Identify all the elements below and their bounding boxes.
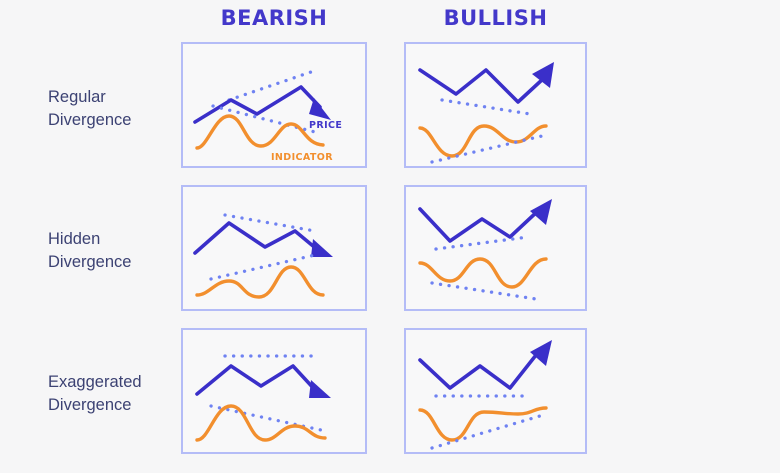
chart-svg bbox=[183, 330, 365, 452]
indicator-line bbox=[197, 116, 323, 148]
price-line bbox=[420, 70, 544, 102]
row-label-line1: Hidden bbox=[48, 228, 176, 251]
price-arrow-down-icon bbox=[311, 239, 333, 257]
indicator-line bbox=[420, 408, 546, 440]
chart-svg bbox=[183, 187, 365, 309]
row-label-hidden-divergence: Hidden Divergence bbox=[48, 228, 176, 274]
chart-svg bbox=[406, 44, 585, 166]
price-trendline-dotted bbox=[229, 72, 311, 100]
price-line bbox=[420, 209, 540, 241]
row-label-line1: Regular bbox=[48, 86, 176, 109]
price-arrow-up-icon bbox=[530, 340, 552, 366]
column-header-bearish: BEARISH bbox=[181, 4, 367, 32]
chart-cell-regular-bearish: PRICE INDICATOR bbox=[181, 42, 367, 168]
chart-cell-hidden-bearish bbox=[181, 185, 367, 311]
row-label-line2: Divergence bbox=[48, 251, 176, 274]
row-label-line1: Exaggerated bbox=[48, 371, 176, 394]
row-label-regular-divergence: Regular Divergence bbox=[48, 86, 176, 132]
price-line bbox=[197, 366, 317, 394]
chart-svg bbox=[406, 330, 585, 452]
column-header-bullish: BULLISH bbox=[404, 4, 587, 32]
price-line bbox=[420, 350, 540, 388]
indicator-line bbox=[197, 406, 325, 440]
row-label-line2: Divergence bbox=[48, 394, 176, 417]
row-label-exaggerated-divergence: Exaggerated Divergence bbox=[48, 371, 176, 417]
divergence-matrix-page: BEARISH BULLISH Regular Divergence Hidde… bbox=[0, 0, 780, 473]
chart-svg: PRICE INDICATOR bbox=[183, 44, 365, 166]
legend-price-label: PRICE bbox=[309, 120, 342, 131]
chart-svg bbox=[406, 187, 585, 309]
indicator-trendline-dotted bbox=[432, 416, 540, 448]
price-arrow-up-icon bbox=[530, 199, 552, 225]
chart-cell-hidden-bullish bbox=[404, 185, 587, 311]
indicator-line bbox=[197, 267, 323, 297]
indicator-line bbox=[420, 259, 546, 287]
chart-cell-exaggerated-bearish bbox=[181, 328, 367, 454]
legend-indicator-label: INDICATOR bbox=[271, 152, 333, 163]
indicator-trendline-dotted bbox=[211, 255, 315, 279]
chart-cell-exaggerated-bullish bbox=[404, 328, 587, 454]
price-arrow-down-icon bbox=[309, 380, 331, 398]
indicator-trendline-dotted bbox=[432, 136, 542, 162]
price-line bbox=[195, 87, 320, 122]
chart-cell-regular-bullish bbox=[404, 42, 587, 168]
row-label-line2: Divergence bbox=[48, 109, 176, 132]
indicator-trendline-dotted bbox=[211, 406, 321, 430]
